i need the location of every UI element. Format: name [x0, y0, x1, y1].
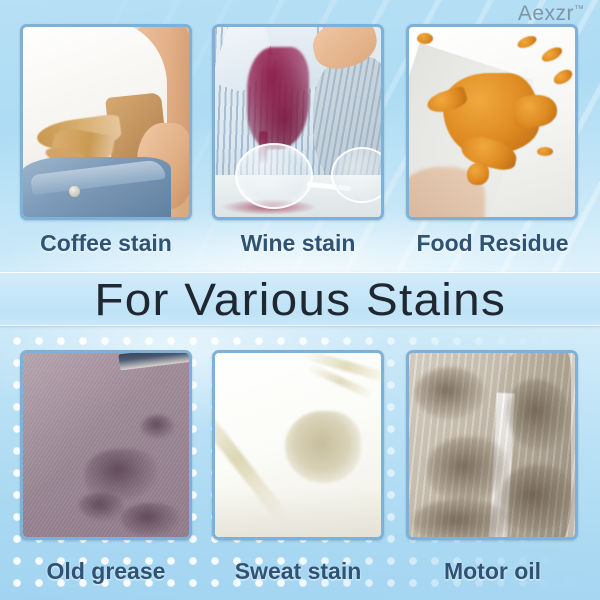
photo-card-sweat-stain: [212, 350, 384, 540]
jeans-button: [69, 186, 80, 197]
product-feature-poster: Aexzr™: [0, 0, 600, 600]
photo-sweat-stain: [215, 353, 381, 537]
food-residue-speck: [551, 67, 574, 87]
label-old-grease: Old grease: [20, 558, 192, 585]
food-residue-mark: [467, 163, 489, 185]
label-coffee-stain: Coffee stain: [20, 230, 192, 257]
wine-stain-mark: [247, 47, 309, 149]
label-food-residue: Food Residue: [400, 230, 585, 257]
sweat-stain-mark: [285, 411, 361, 483]
wine-glass-bowl: [235, 143, 313, 209]
photo-motor-oil: [409, 353, 575, 537]
label-sweat-stain: Sweat stain: [212, 558, 384, 585]
food-residue-speck: [537, 147, 553, 156]
brand-logo: Aexzr™: [518, 2, 584, 26]
food-residue-speck: [417, 33, 433, 44]
trademark-symbol: ™: [574, 4, 584, 15]
motor-oil-stain-mark: [413, 499, 509, 537]
label-wine-stain: Wine stain: [212, 230, 384, 257]
photo-card-motor-oil: [406, 350, 578, 540]
photo-card-food-residue: [406, 24, 578, 220]
photo-card-coffee-stain: [20, 24, 192, 220]
photo-wine-stain: [215, 27, 381, 217]
label-motor-oil: Motor oil: [400, 558, 585, 585]
fabric-sheen: [23, 353, 189, 537]
fabric-shadow: [215, 487, 381, 537]
motor-oil-stain-mark: [499, 465, 573, 531]
photo-card-old-grease: [20, 350, 192, 540]
food-residue-speck: [516, 34, 538, 51]
photo-food-residue: [409, 27, 575, 217]
food-residue-speck: [540, 44, 565, 64]
photo-old-grease: [23, 353, 189, 537]
photo-card-wine-stain: [212, 24, 384, 220]
photo-coffee-stain: [23, 27, 189, 217]
brand-name: Aexzr: [518, 2, 574, 25]
motor-oil-stain-mark: [415, 367, 485, 419]
headline-text: For Various Stains: [94, 277, 506, 322]
motor-oil-stain-mark: [507, 379, 569, 449]
headline-banner: For Various Stains: [0, 272, 600, 326]
